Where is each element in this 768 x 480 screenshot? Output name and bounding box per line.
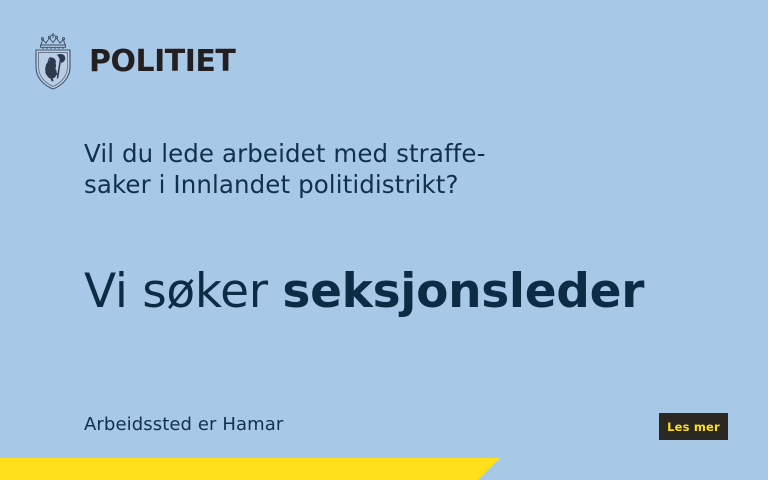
- page-title: Vi søker seksjonsleder: [84, 266, 644, 318]
- politiet-wordmark: POLITIET: [89, 47, 235, 77]
- recruitment-banner: POLITIET Vil du lede arbeidet med straff…: [0, 0, 768, 480]
- workplace-location: Arbeidssted er Hamar: [84, 413, 283, 437]
- yellow-accent-stripe: [0, 458, 500, 480]
- headline-role: seksjonsleder: [282, 264, 644, 319]
- read-more-button[interactable]: Les mer: [659, 413, 728, 440]
- headline-prefix: Vi søker: [84, 264, 282, 319]
- politiet-logo: POLITIET: [26, 31, 235, 91]
- subheadline-question: Vil du lede arbeidet med straffe- saker …: [84, 138, 486, 200]
- norwegian-coat-of-arms-icon: [26, 31, 80, 91]
